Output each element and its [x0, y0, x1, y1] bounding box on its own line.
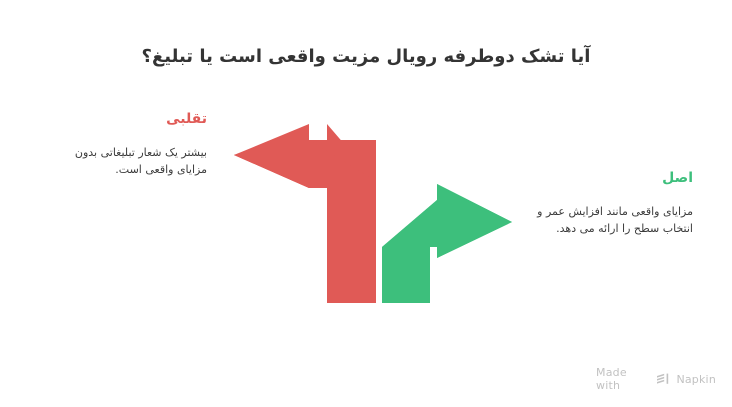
block-heading-fake: تقلبی	[52, 110, 207, 128]
page-title: آیا تشک دوطرفه رویال مزیت واقعی است یا ت…	[0, 44, 732, 70]
footer-made-with-label: Made with	[596, 366, 652, 392]
napkin-chevron-stack-icon	[657, 373, 671, 385]
bent-arrow-left-up-icon	[228, 124, 376, 306]
footer-brand-label: Napkin	[676, 373, 716, 386]
footer-watermark: Made with Napkin	[596, 370, 716, 388]
text-block-genuine: اصل مزایای واقعی مانند افزایش عمر و انتخ…	[528, 169, 693, 237]
block-body-fake: بیشتر یک شعار تبلیغاتی بدون مزایای واقعی…	[52, 144, 207, 178]
slide-canvas: آیا تشک دوطرفه رویال مزیت واقعی است یا ت…	[0, 0, 732, 407]
block-body-genuine: مزایای واقعی مانند افزایش عمر و انتخاب س…	[528, 203, 693, 237]
bent-arrow-right-up-icon	[382, 184, 518, 306]
block-heading-genuine: اصل	[528, 169, 693, 187]
text-block-fake: تقلبی بیشتر یک شعار تبلیغاتی بدون مزایای…	[52, 110, 207, 178]
